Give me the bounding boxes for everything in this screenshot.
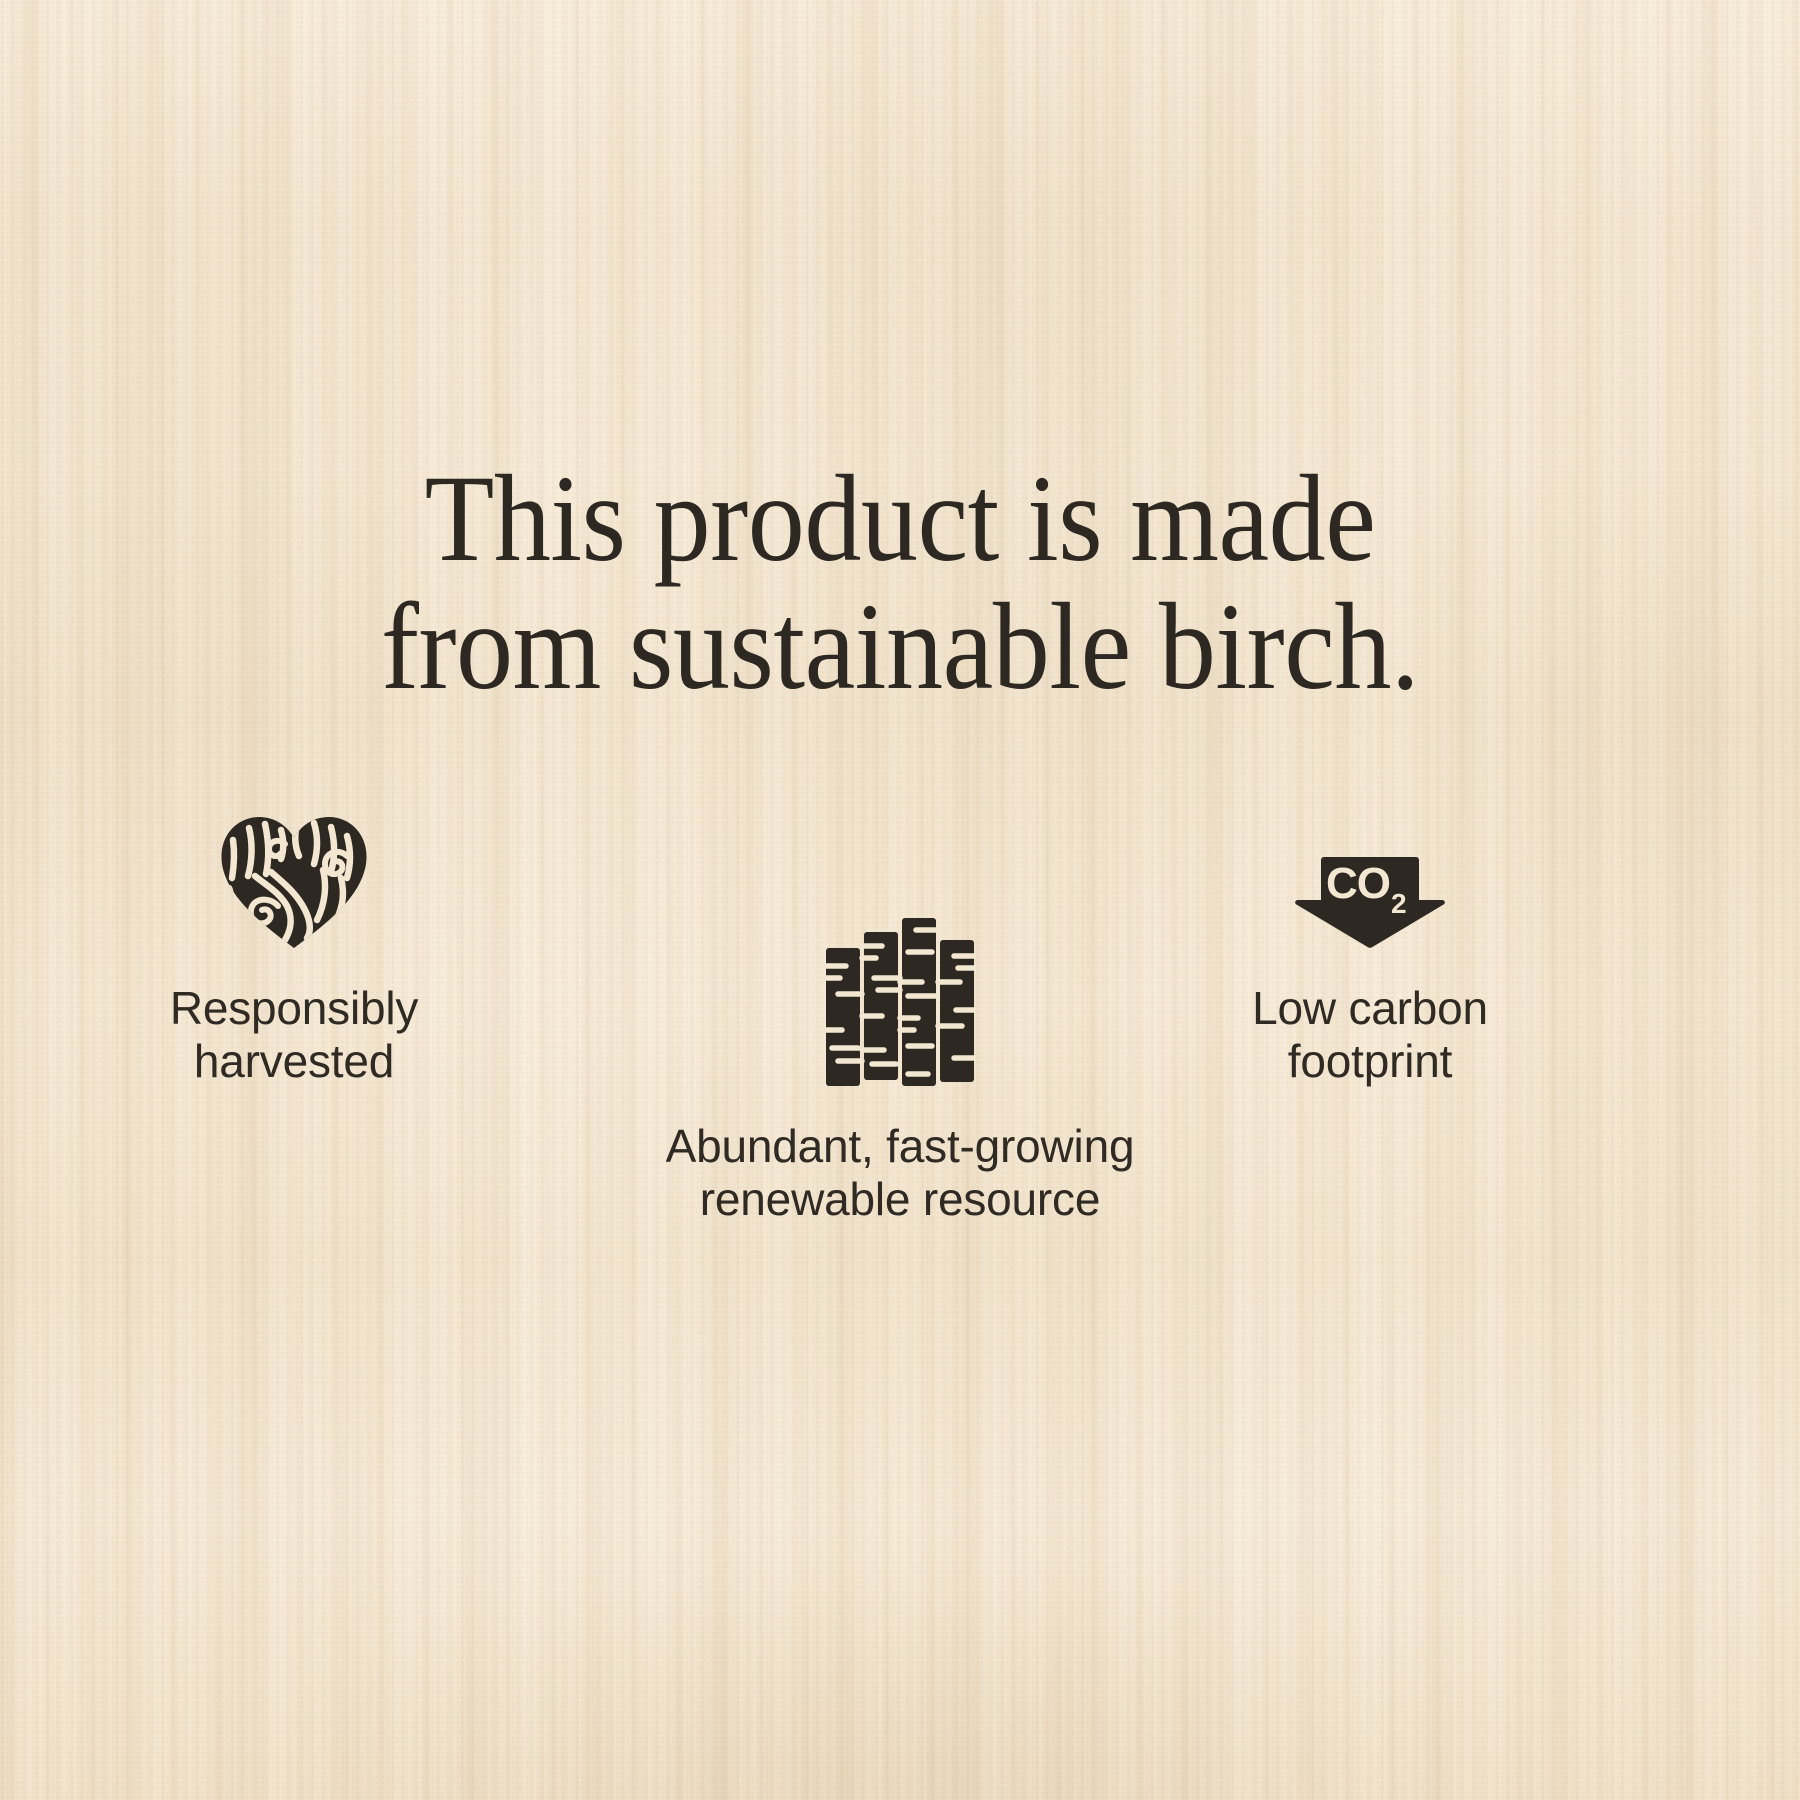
feature-caption-line-1: Low carbon <box>1160 982 1580 1035</box>
co2-icon-label: CO <box>1326 859 1390 908</box>
birch-trunks-icon <box>824 918 976 1086</box>
feature-caption: Abundant, fast-growing renewable resourc… <box>620 1120 1180 1227</box>
feature-icon-slot <box>620 910 1180 1086</box>
feature-caption-line-1: Abundant, fast-growing <box>620 1120 1180 1173</box>
page-title: This product is made from sustainable bi… <box>72 455 1728 710</box>
sustainability-poster: This product is made from sustainable bi… <box>0 0 1800 1800</box>
headline-line-1: This product is made <box>72 455 1728 583</box>
feature-icon-slot: CO 2 <box>1160 800 1580 950</box>
feature-caption-line-2: renewable resource <box>620 1173 1180 1226</box>
feature-caption-line-2: footprint <box>1160 1035 1580 1088</box>
co2-down-arrow-icon: CO 2 <box>1294 854 1446 950</box>
feature-list: Responsibly harvested <box>60 790 1740 1250</box>
feature-caption: Responsibly harvested <box>84 982 504 1089</box>
co2-icon-subscript: 2 <box>1391 888 1407 919</box>
feature-caption: Low carbon footprint <box>1160 982 1580 1089</box>
wood-grain-heart-icon <box>219 814 369 950</box>
feature-caption-line-1: Responsibly <box>84 982 504 1035</box>
feature-icon-slot <box>84 800 504 950</box>
feature-abundant-renewable: Abundant, fast-growing renewable resourc… <box>620 910 1180 1227</box>
feature-caption-line-2: harvested <box>84 1035 504 1088</box>
feature-low-carbon-footprint: CO 2 Low carbon footprint <box>1160 800 1580 1089</box>
headline-line-2: from sustainable birch. <box>72 583 1728 711</box>
feature-responsibly-harvested: Responsibly harvested <box>84 800 504 1089</box>
poster-content: This product is made from sustainable bi… <box>0 0 1800 1800</box>
